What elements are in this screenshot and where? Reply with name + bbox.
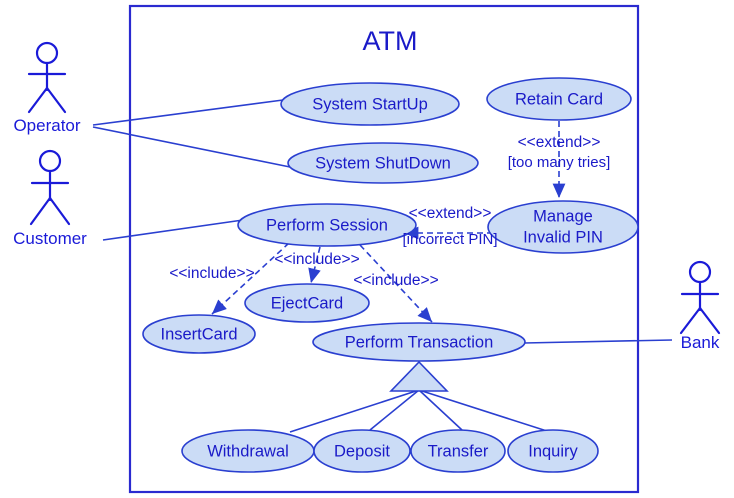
generalization-line-transfer: [419, 390, 462, 430]
use-case-diagram-canvas: ATM Operator Customer Bank: [0, 0, 734, 498]
use-case-manage-invalid-pin[interactable]: Manage Invalid PIN: [488, 201, 638, 253]
system-title: ATM: [363, 26, 418, 56]
stereotype-label-include-ejectcard: <<include>>: [274, 251, 359, 268]
actor-head-icon: [37, 43, 57, 63]
use-case-withdrawal[interactable]: Withdrawal: [182, 430, 314, 472]
condition-label-incorrect-pin: [incorrect PIN]: [402, 231, 497, 248]
use-case-label: Perform Session: [266, 216, 388, 234]
use-case-system-startup[interactable]: System StartUp: [281, 83, 459, 125]
generalization-line-deposit: [370, 390, 419, 430]
use-case-label: Perform Transaction: [345, 333, 494, 351]
actor-bank[interactable]: Bank: [681, 262, 720, 352]
actor-leg-left-icon: [29, 88, 47, 112]
actor-leg-right-icon: [47, 88, 65, 112]
use-case-label: System StartUp: [312, 95, 428, 113]
actor-customer[interactable]: Customer: [13, 151, 87, 248]
use-case-label: Withdrawal: [207, 442, 289, 460]
use-case-label: EjectCard: [271, 294, 343, 312]
stereotype-label-include-transaction: <<include>>: [353, 272, 438, 289]
use-case-insert-card[interactable]: InsertCard: [143, 315, 255, 353]
actor-leg-right-icon: [700, 308, 719, 333]
association-customer-session: [103, 220, 243, 240]
actor-head-icon: [690, 262, 710, 282]
actor-leg-left-icon: [31, 198, 50, 224]
condition-label-too-many-tries: [too many tries]: [508, 154, 611, 171]
generalization-arrowhead: [391, 362, 447, 391]
use-case-label: Inquiry: [528, 442, 578, 460]
generalization-line-withdrawal: [290, 390, 419, 432]
use-case-deposit[interactable]: Deposit: [314, 430, 410, 472]
use-case-perform-session[interactable]: Perform Session: [238, 204, 416, 246]
stereotype-label-include-insertcard: <<include>>: [169, 265, 254, 282]
association-operator-startup: [93, 100, 283, 125]
use-case-transfer[interactable]: Transfer: [411, 430, 505, 472]
use-case-label: Deposit: [334, 442, 390, 460]
stereotype-label-extend-pin: <<extend>>: [409, 205, 492, 222]
use-case-label: InsertCard: [160, 325, 237, 343]
use-case-label: Transfer: [428, 442, 489, 460]
actor-operator[interactable]: Operator: [13, 43, 80, 135]
actor-label-customer: Customer: [13, 229, 87, 248]
association-bank-transaction: [524, 340, 672, 343]
actor-head-icon: [40, 151, 60, 171]
use-case-eject-card[interactable]: EjectCard: [245, 284, 369, 322]
use-case-retain-card[interactable]: Retain Card: [487, 78, 631, 120]
use-case-label-line2: Invalid PIN: [523, 228, 603, 246]
use-case-label-line1: Manage: [533, 207, 593, 225]
generalization-line-inquiry: [419, 390, 550, 432]
actor-label-bank: Bank: [681, 333, 720, 352]
stereotype-label-extend-retain: <<extend>>: [518, 134, 601, 151]
actor-leg-right-icon: [50, 198, 69, 224]
use-case-system-shutdown[interactable]: System ShutDown: [288, 143, 478, 183]
association-operator-shutdown: [93, 127, 290, 167]
use-case-label: Retain Card: [515, 90, 603, 108]
use-case-perform-transaction[interactable]: Perform Transaction: [313, 323, 525, 361]
actor-leg-left-icon: [681, 308, 700, 333]
use-case-label: System ShutDown: [315, 154, 451, 172]
use-case-inquiry[interactable]: Inquiry: [508, 430, 598, 472]
actor-label-operator: Operator: [13, 116, 80, 135]
